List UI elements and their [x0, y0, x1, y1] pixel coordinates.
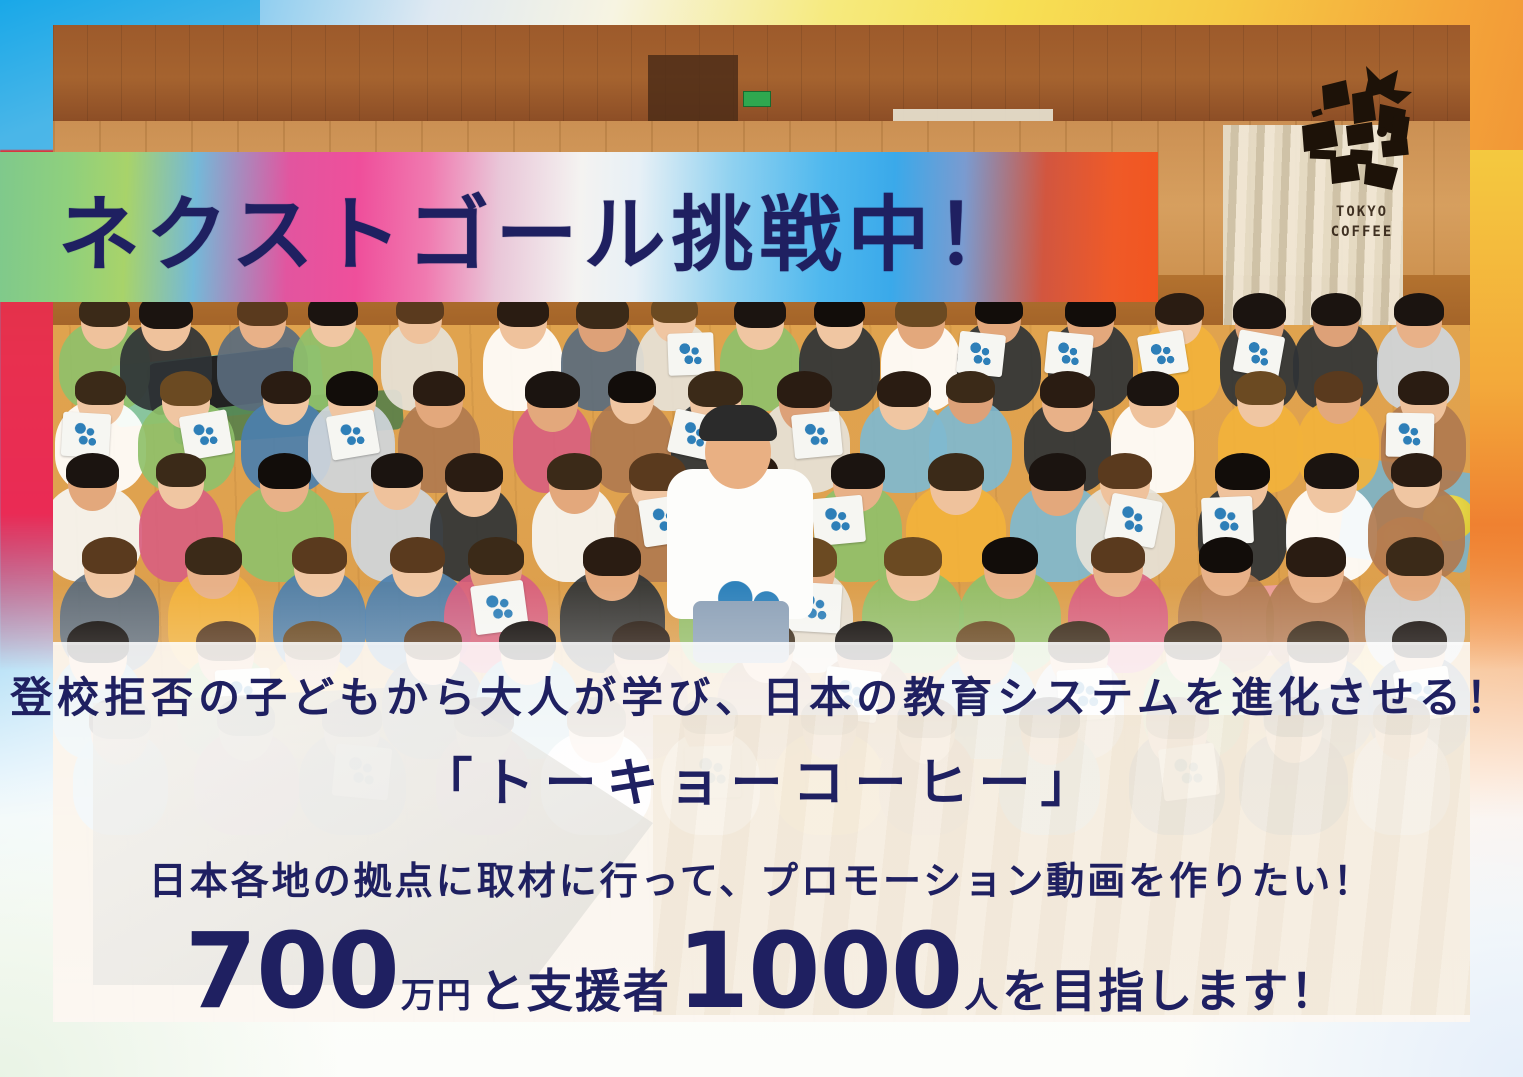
logo-card — [60, 411, 110, 458]
person-hair — [1127, 371, 1179, 406]
next-goal-banner: ネクストゴール挑戦中！ — [0, 152, 1158, 302]
person-hair — [390, 537, 445, 573]
logo-card — [1386, 412, 1435, 457]
person-hair — [1091, 537, 1145, 573]
tokyo-coffee-logo: TOKYO COFFEE — [1294, 64, 1424, 259]
person-hair — [1215, 453, 1270, 490]
goal-amount-unit: 万円 — [401, 979, 473, 1013]
person-hair — [547, 453, 602, 490]
person-hair — [82, 537, 137, 574]
person-hair — [185, 537, 241, 575]
exit-sign-icon — [743, 91, 771, 107]
supporters-value: 1000 — [677, 919, 962, 1023]
logo-romaji-line2: COFFEE — [1306, 222, 1418, 242]
person-hair — [525, 371, 580, 408]
person-hair — [1235, 371, 1286, 405]
gym-door — [648, 55, 738, 121]
person-hair — [1233, 293, 1287, 329]
person-hair — [160, 371, 213, 406]
person-hair — [583, 537, 641, 576]
person-hair — [413, 371, 465, 406]
person-hair — [292, 537, 347, 574]
logo-romaji-line1: TOKYO — [1306, 202, 1418, 222]
goal-tail-text: を目指します！ — [1002, 968, 1338, 1014]
logo-romaji-text: TOKYO COFFEE — [1306, 202, 1418, 243]
person-hair — [326, 371, 378, 406]
person-hair — [66, 453, 119, 488]
goal-amount-value: 700 — [185, 919, 399, 1023]
person-hair — [258, 453, 312, 489]
person-hair — [688, 371, 743, 407]
copy-line-3: 日本各地の拠点に取材に行って、プロモーション動画を作りたい！ — [0, 850, 1523, 905]
person-hair — [831, 453, 885, 489]
person-hair — [1314, 371, 1363, 403]
person-hair — [1391, 453, 1442, 487]
copy-goal-line: 700 万円 と支援者 1000 人 を目指します！ — [0, 919, 1523, 1023]
person-hair — [608, 371, 656, 403]
logo-card — [668, 332, 716, 376]
copy-brand-name: 「トーキョーコーヒー」 — [0, 741, 1523, 816]
person-hair — [1199, 537, 1253, 573]
photo-fade-soft — [53, 585, 1470, 645]
person-hair — [75, 371, 126, 405]
person-hair — [1029, 453, 1086, 491]
goal-conjunction: と支援者 — [479, 968, 671, 1014]
person-hair — [371, 453, 424, 488]
person-hair — [1386, 537, 1444, 576]
supporters-unit: 人 — [964, 979, 1000, 1013]
center-person-cap — [699, 405, 777, 441]
person-hair — [1311, 293, 1361, 326]
person-hair — [261, 371, 310, 404]
poster-copy: 登校拒否の子どもから大人が学び、日本の教育システムを進化させる！ 「トーキョーコ… — [0, 672, 1523, 1023]
person-hair — [468, 537, 524, 575]
banner-headline: ネクストゴール挑戦中！ — [0, 152, 1158, 302]
person-hair — [928, 453, 985, 491]
person-hair — [156, 453, 207, 487]
person-hair — [445, 453, 503, 492]
person-hair — [877, 371, 931, 407]
person-hair — [946, 371, 995, 403]
tokyo-coffee-logo-icon — [1294, 64, 1424, 204]
person-hair — [1040, 371, 1095, 408]
copy-line-1: 登校拒否の子どもから大人が学び、日本の教育システムを進化させる！ — [0, 672, 1523, 725]
person-hair — [1394, 293, 1444, 326]
person-hair — [1155, 293, 1203, 325]
person-hair — [884, 537, 942, 576]
person-hair — [777, 371, 832, 408]
person-hair — [1398, 371, 1450, 405]
person-hair — [1286, 537, 1346, 577]
person-hair — [982, 537, 1038, 574]
person-hair — [1304, 453, 1358, 489]
person-hair — [1098, 453, 1152, 489]
poster-canvas: TOKYO COFFEE ネクストゴール挑戦中！ 登校拒否の子どもから大人が学び… — [0, 0, 1523, 1077]
